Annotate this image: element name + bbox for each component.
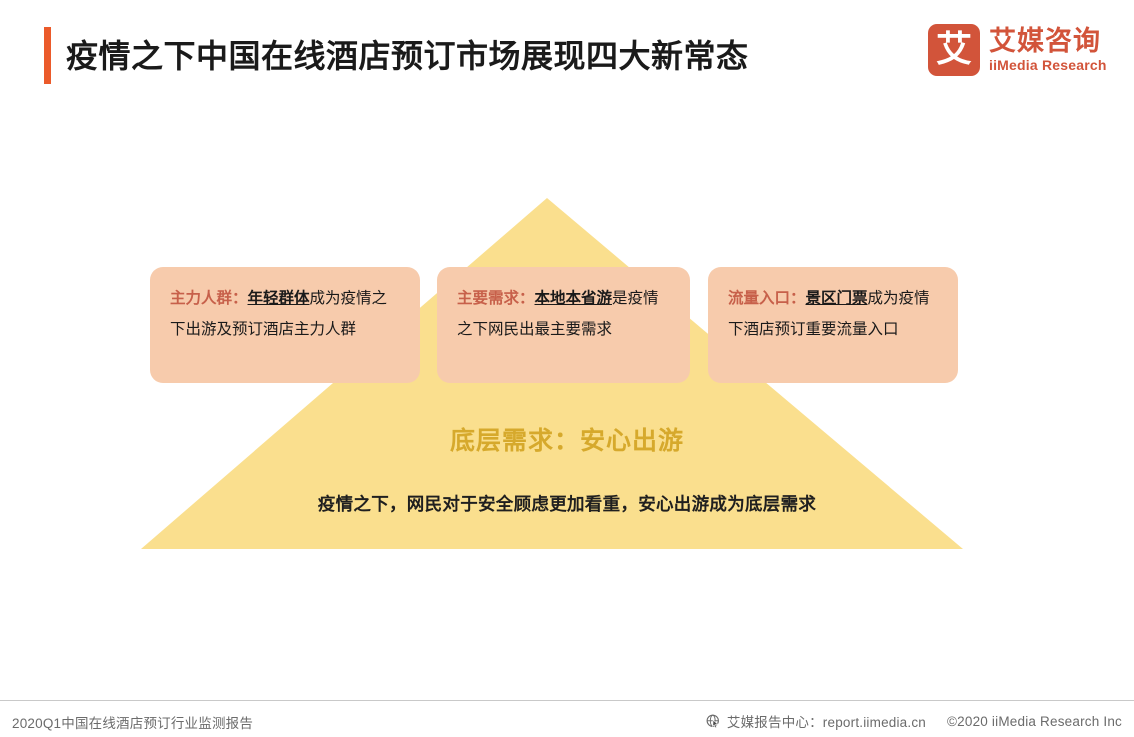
- insight-card-traffic-entry: 流量入口：景区门票成为疫情下酒店预订重要流量入口: [708, 267, 958, 383]
- insight-card-main-demand: 主要需求：本地本省游是疫情之下网民出最主要需求: [437, 267, 690, 383]
- footer-copyright: ©2020 iiMedia Research Inc: [947, 714, 1122, 729]
- insight-card-main-audience: 主力人群：年轻群体成为疫情之下出游及预订酒店主力人群: [150, 267, 420, 383]
- footer-divider: [0, 700, 1134, 701]
- insight-card-label: 主要需求：: [457, 290, 535, 307]
- brand-logo: 艾 艾媒咨询 iiMedia Research: [928, 24, 1107, 76]
- insight-card-label: 流量入口：: [728, 290, 806, 307]
- footer-center-label: 艾媒报告中心：report.iimedia.cn: [727, 711, 926, 731]
- footer-meta: 艾媒报告中心：report.iimedia.cn ©2020 iiMedia R…: [706, 711, 1122, 731]
- logo-text: 艾媒咨询 iiMedia Research: [989, 27, 1107, 74]
- slide-header: 疫情之下中国在线酒店预订市场展现四大新常态 艾 艾媒咨询 iiMedia Res…: [0, 0, 1134, 110]
- page-title: 疫情之下中国在线酒店预订市场展现四大新常态: [66, 31, 749, 77]
- insight-card-keyword: 景区门票: [806, 290, 868, 307]
- footer-report-name: 2020Q1中国在线酒店预订行业监测报告: [12, 712, 253, 732]
- slide-root: 疫情之下中国在线酒店预订市场展现四大新常态 艾 艾媒咨询 iiMedia Res…: [0, 0, 1134, 737]
- globe-cursor-icon: [706, 714, 721, 729]
- insight-card-keyword: 年轻群体: [248, 290, 310, 307]
- logo-mark-icon: 艾: [928, 24, 980, 76]
- logo-name-cn: 艾媒咨询: [989, 27, 1107, 56]
- pyramid-base-description: 疫情之下，网民对于安全顾虑更加看重，安心出游成为底层需求: [0, 491, 1134, 516]
- logo-name-en: iiMedia Research: [989, 57, 1107, 74]
- pyramid-base-title: 底层需求：安心出游: [0, 421, 1134, 457]
- title-accent-bar: [44, 27, 51, 84]
- insight-card-keyword: 本地本省游: [535, 290, 613, 307]
- insight-card-label: 主力人群：: [170, 290, 248, 307]
